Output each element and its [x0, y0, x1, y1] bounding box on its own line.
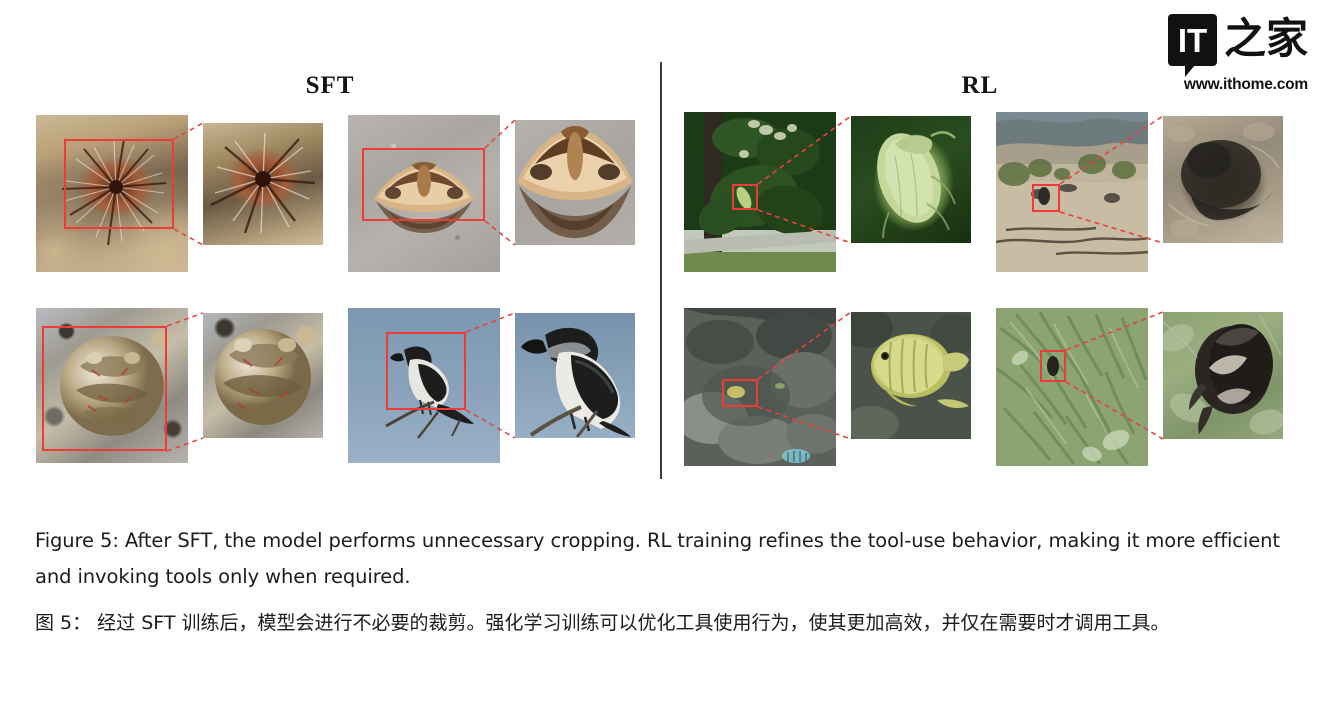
figure-panel-sft-crab: [36, 308, 336, 470]
katydid-zoom: [851, 116, 971, 243]
source-image-crab: [36, 308, 188, 463]
cropped-image-fish: [851, 312, 971, 439]
cropped-image-moth: [515, 120, 635, 245]
figure-caption-chinese: 图 5： 经过 SFT 训练后，模型会进行不必要的裁剪。强化学习训练可以优化工具…: [35, 604, 1290, 642]
source-image-desert-animal: [996, 112, 1148, 272]
underwater-scene: [684, 308, 836, 466]
source-image-beetle: [996, 308, 1148, 466]
figure-panel-sft-sea-urchin: [36, 115, 336, 275]
katydid-leaf-scene: [684, 112, 836, 272]
cropped-image-crab: [203, 313, 323, 438]
desert-landscape: [996, 112, 1148, 272]
figure-panel-sft-moth: [348, 115, 648, 275]
zhijia-logo-label: 之家: [1224, 14, 1308, 64]
source-image-moth: [348, 115, 500, 272]
cropped-image-beetle: [1163, 312, 1283, 439]
column-title-rl: RL: [660, 72, 1300, 100]
figure-panel-rl-desert-animal: [996, 112, 1286, 275]
figure-caption-english: Figure 5: After SFT, the model performs …: [35, 523, 1287, 595]
source-image-fish: [684, 308, 836, 466]
crab-shape: [36, 308, 188, 463]
figure-panel-rl-beetle: [996, 308, 1286, 471]
column-title-sft: SFT: [0, 72, 660, 100]
ithome-logo: IT 之家: [1168, 14, 1308, 72]
moth-shape: [348, 115, 500, 272]
sea-urchin-spines: [36, 115, 188, 272]
desert-animal-zoom: [1163, 116, 1283, 243]
source-image-sea-urchin: [36, 115, 188, 272]
sea-urchin-spines-zoom: [203, 123, 323, 245]
figure-panel-sft-shrike: [348, 308, 648, 470]
source-image-katydid: [684, 112, 836, 272]
cropped-image-katydid: [851, 116, 971, 243]
shrike-bird-zoom: [515, 313, 635, 438]
sagebrush-foliage: [996, 308, 1148, 466]
cropped-image-desert-animal: [1163, 116, 1283, 243]
column-divider: [660, 62, 662, 479]
source-image-shrike: [348, 308, 500, 463]
it-logo-badge: IT: [1168, 14, 1217, 66]
it-logo-label: IT: [1178, 24, 1207, 57]
beetle-zoom: [1163, 312, 1283, 439]
figure-panel-rl-fish: [684, 308, 974, 471]
fish-zoom: [851, 312, 971, 439]
crab-shape-zoom: [203, 313, 323, 438]
cropped-image-sea-urchin: [203, 123, 323, 245]
moth-shape-zoom: [515, 120, 635, 245]
cropped-image-shrike: [515, 313, 635, 438]
shrike-bird: [348, 308, 500, 463]
figure-panel-rl-katydid: [684, 112, 974, 275]
